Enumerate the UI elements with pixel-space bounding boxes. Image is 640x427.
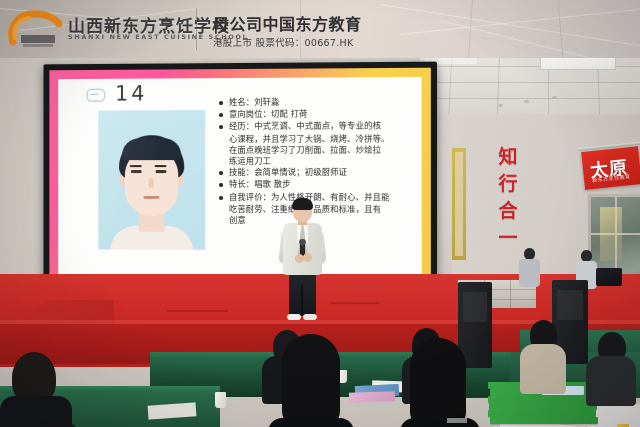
wall-calligraphy-zhixingheyi: 知 行 合 一: [493, 144, 523, 252]
red-wall-banner: 太原 新东方烹饪教育: [581, 146, 640, 190]
bullet-experience-line2: 心课程，并且学习了大锅、烧烤、冷拼等。: [219, 133, 417, 145]
thermos-band: [447, 418, 467, 423]
parent-company-name: 母公司中国东方教育: [213, 11, 362, 35]
audience-member: [520, 320, 566, 390]
window-light-glow: [600, 207, 622, 261]
slide-content: 14: [58, 77, 422, 291]
audience-member-foreground: [0, 352, 72, 427]
brand-header-bar: 山西新东方烹饪学校 SHANXI NEW EAST CUISINE SCHOOL…: [0, 0, 640, 58]
calligraphy-char-4: 一: [498, 225, 517, 252]
wall-trim-left-inner: [455, 152, 463, 256]
bullet-experience: 经历：中式烹调、中式面点，等专业的核: [219, 121, 417, 133]
led-projection-screen: 14: [43, 62, 437, 307]
bullet-position: 意向岗位：切配 打荷: [219, 108, 417, 120]
speech-bubble-icon: [87, 89, 106, 102]
candidate-photo: [98, 110, 205, 250]
bullet-skills: 技能：会简单情说；初级厨师证: [219, 167, 417, 178]
background-person: [519, 248, 541, 286]
paper-cup: [215, 392, 226, 408]
paper-document-pink: [349, 391, 395, 403]
audience-member: [586, 332, 636, 402]
screen-display-area: 14: [49, 68, 431, 301]
calligraphy-char-2: 行: [498, 171, 517, 198]
ceiling-speaker-icon: [552, 96, 557, 99]
bullet-hobbies: 特长：唱歌 散步: [219, 179, 417, 190]
background-monitor: [596, 268, 622, 286]
conference-room-photo: 太原 新东方烹饪教育 知 行 合 一 14: [0, 0, 640, 427]
audience-member-foreground: [400, 338, 480, 427]
bullet-name: 姓名：刘轩淼: [219, 96, 417, 108]
bullet-experience-line3: 在面点晚班学习了刀削面、拉面、炒烩拉: [219, 144, 417, 156]
slide-border-frame: 14: [49, 68, 431, 301]
ceiling-speaker-icon: [524, 100, 529, 103]
audience-member-foreground: [268, 334, 354, 427]
school-logo-icon: [5, 8, 63, 50]
calligraphy-char-1: 知: [498, 144, 517, 171]
header-divider: [196, 8, 197, 50]
stock-listing-info: 港股上市 股票代码：00667.HK: [213, 35, 354, 49]
room-interior: 太原 新东方烹饪教育 知 行 合 一 14: [0, 52, 640, 427]
calligraphy-char-3: 合: [498, 198, 517, 225]
ceiling-smoke-detector-icon: [498, 104, 503, 107]
student-presenter: [274, 200, 330, 322]
slide-number: 14: [115, 82, 147, 106]
bullet-experience-line4: 练运用刀工: [219, 156, 417, 168]
